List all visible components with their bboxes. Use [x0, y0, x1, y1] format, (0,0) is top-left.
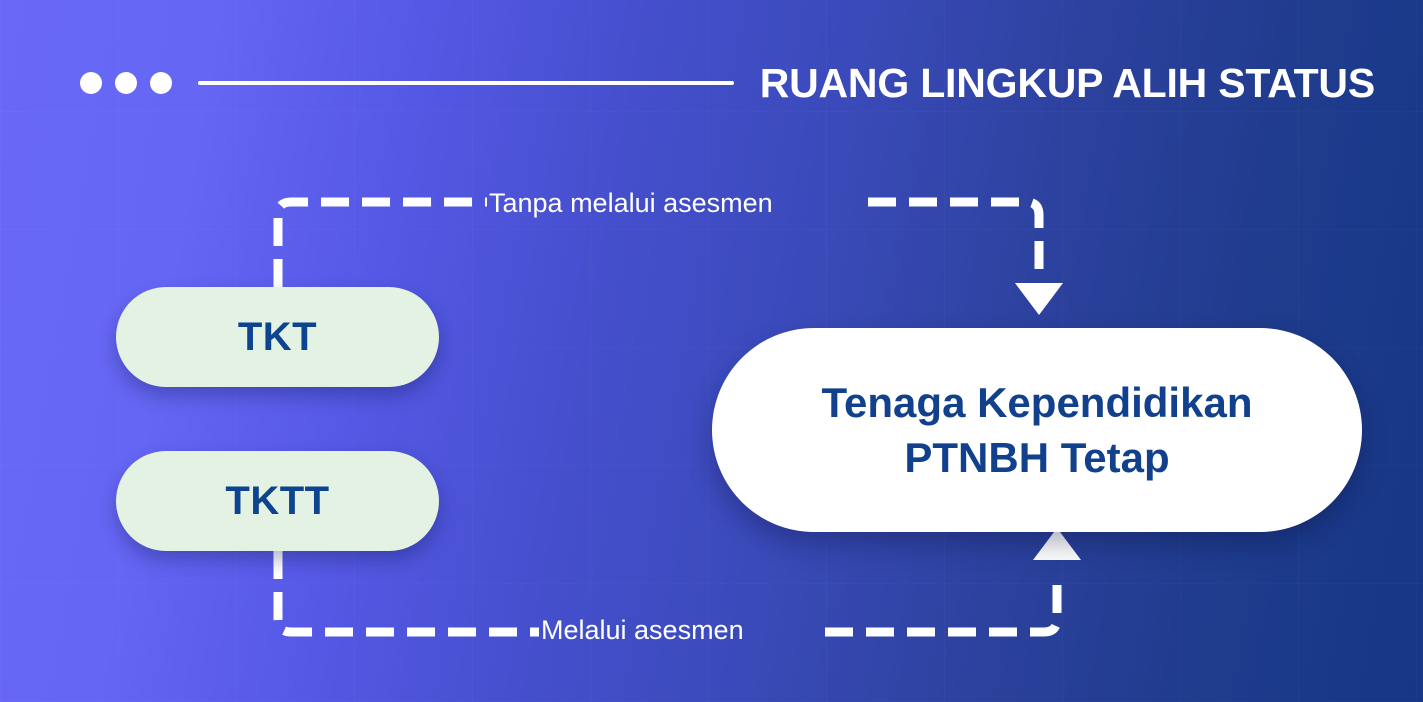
node-target-text: Tenaga Kependidikan PTNBH Tetap	[822, 375, 1253, 486]
edge-tktt-segment-left	[278, 551, 539, 632]
node-tktt[interactable]: TKTT	[116, 451, 439, 551]
arrowhead-down-icon	[1015, 283, 1063, 315]
edge-tkt-segment-right	[868, 202, 1039, 282]
node-target-line-2: PTNBH Tetap	[904, 434, 1169, 481]
edge-tktt-segment-right	[825, 572, 1057, 632]
slide-canvas: RUANG LINGKUP ALIH STATUS Tanpa melalui …	[0, 0, 1423, 702]
edge-tkt-segment-left	[278, 202, 487, 287]
node-tenaga-kependidikan-ptnbh-tetap[interactable]: Tenaga Kependidikan PTNBH Tetap	[712, 328, 1362, 532]
node-tkt[interactable]: TKT	[116, 287, 439, 387]
node-tktt-label: TKTT	[225, 479, 329, 524]
edge-label-melalui-asesmen: Melalui asesmen	[541, 617, 744, 644]
arrowhead-up-icon	[1033, 528, 1081, 560]
node-tkt-label: TKT	[238, 315, 317, 360]
node-target-line-1: Tenaga Kependidikan	[822, 379, 1253, 426]
edge-label-tanpa-asesmen: Tanpa melalui asesmen	[489, 190, 773, 217]
